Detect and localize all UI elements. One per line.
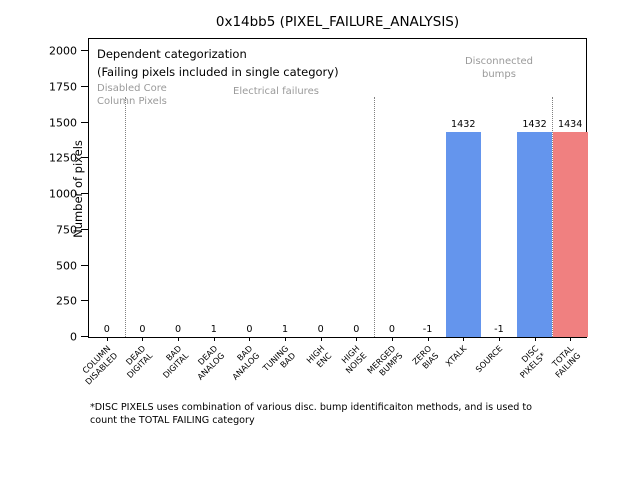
bar-value-label: 0 [104,324,110,335]
x-tick [249,337,250,341]
bar[interactable] [553,132,588,337]
bar-value-label: -1 [494,324,504,335]
x-tick [356,337,357,341]
y-tick-label: 750 [56,223,77,236]
plot-area: Number of pixels 02505007501000125015001… [88,38,587,338]
bar-value-label: 0 [246,324,252,335]
y-tick: 1500 [81,122,89,123]
y-tick: 1000 [81,193,89,194]
x-tick [321,337,322,341]
y-tick-label: 0 [70,331,77,344]
bar[interactable] [446,132,481,337]
x-tick [178,337,179,341]
annotation-dependent-categorization: Dependent categorization [97,47,247,61]
annotation-disabled-core-column-pixels: Disabled Core Column Pixels [97,83,167,108]
chart-title: 0x14bb5 (PIXEL_FAILURE_ANALYSIS) [88,14,587,30]
annotation-electrical-failures: Electrical failures [233,86,319,97]
x-tick [428,337,429,341]
x-tick [535,337,536,341]
x-tick [499,337,500,341]
x-tick [214,337,215,341]
x-tick [107,337,108,341]
y-tick-label: 1500 [49,116,77,129]
y-tick: 1250 [81,157,89,158]
x-tick [463,337,464,341]
y-tick-label: 500 [56,259,77,272]
bar-value-label: 1432 [522,119,546,130]
bar-value-label: 1 [211,324,217,335]
bar-value-label: 0 [353,324,359,335]
bar-value-label: 0 [318,324,324,335]
y-tick-label: 1250 [49,152,77,165]
bar-value-label: 1434 [558,119,582,130]
y-tick-label: 2000 [49,45,77,58]
x-tick [392,337,393,341]
bar-value-label: 1432 [451,119,475,130]
bar-value-label: -1 [423,324,433,335]
bar-value-label: 0 [139,324,145,335]
annotation-dependent-subtitle: (Failing pixels included in single categ… [97,65,339,79]
y-tick-label: 250 [56,295,77,308]
divider-line [552,97,553,337]
y-tick: 1750 [81,86,89,87]
chart-footnote: *DISC PIXELS uses combination of various… [90,402,560,428]
x-tick [570,337,571,341]
y-tick: 0 [81,336,89,337]
chart-figure: 0x14bb5 (PIXEL_FAILURE_ANALYSIS) Number … [0,0,640,480]
bar-value-label: 0 [389,324,395,335]
annotation-disconnected-bumps: Disconnected bumps [447,56,551,81]
y-tick-label: 1000 [49,188,77,201]
divider-line [374,97,375,337]
y-tick: 750 [81,229,89,230]
divider-line [125,97,126,337]
bar-value-label: 0 [175,324,181,335]
x-tick [142,337,143,341]
y-tick-label: 1750 [49,81,77,94]
bar[interactable] [517,132,552,337]
bar-value-label: 1 [282,324,288,335]
x-tick [285,337,286,341]
y-tick: 250 [81,300,89,301]
y-tick: 2000 [81,50,89,51]
y-tick: 500 [81,265,89,266]
